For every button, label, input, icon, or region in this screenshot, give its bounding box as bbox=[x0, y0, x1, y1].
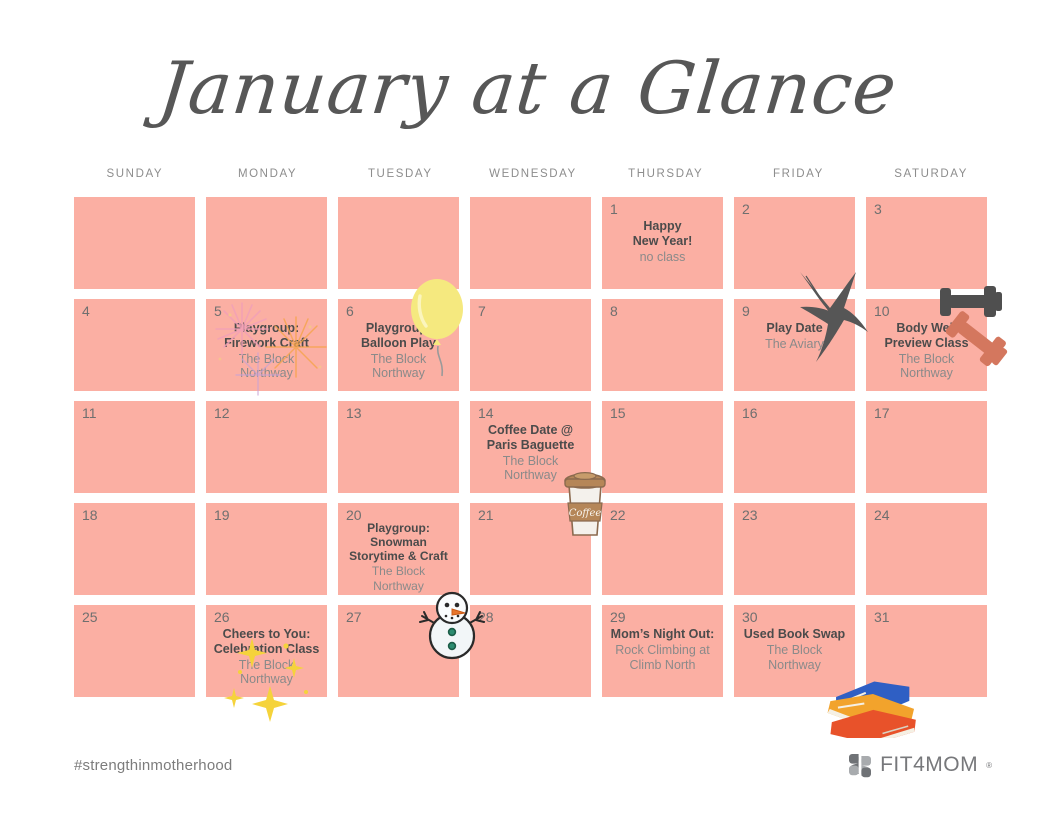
day-number: 30 bbox=[742, 609, 758, 626]
calendar-day-27[interactable]: 27 bbox=[338, 605, 459, 697]
day-number: 6 bbox=[346, 303, 354, 320]
fit4mom-logo-mark bbox=[847, 752, 873, 778]
calendar-day-2[interactable]: 2 bbox=[734, 197, 855, 289]
day-number: 3 bbox=[874, 201, 882, 218]
day-number: 5 bbox=[214, 303, 222, 320]
day-number: 1 bbox=[610, 201, 618, 218]
day-number: 8 bbox=[610, 303, 618, 320]
event-title: Coffee Date @ Paris Baguette bbox=[474, 423, 587, 453]
day-number: 19 bbox=[214, 507, 230, 524]
day-number: 17 bbox=[874, 405, 890, 422]
weekday-header-tuesday: TUESDAY bbox=[339, 168, 461, 180]
day-number: 14 bbox=[478, 405, 494, 422]
weekday-header-sunday: SUNDAY bbox=[74, 168, 196, 180]
calendar-day-14[interactable]: 14Coffee Date @ Paris BaguetteThe Block … bbox=[470, 401, 591, 493]
calendar-day-22[interactable]: 22 bbox=[602, 503, 723, 595]
day-number: 28 bbox=[478, 609, 494, 626]
day-number: 18 bbox=[82, 507, 98, 524]
calendar-day-3[interactable]: 3 bbox=[866, 197, 987, 289]
calendar-day-16[interactable]: 16 bbox=[734, 401, 855, 493]
weekday-header-row: SUNDAY MONDAY TUESDAY WEDNESDAY THURSDAY… bbox=[74, 168, 992, 180]
event-location: The Block Northway bbox=[474, 454, 587, 484]
event-location: The Block Northway bbox=[210, 352, 323, 382]
calendar-day-28[interactable]: 28 bbox=[470, 605, 591, 697]
event-title: Cheers to You: Celebration Class bbox=[210, 627, 323, 657]
calendar-day-23[interactable]: 23 bbox=[734, 503, 855, 595]
day-number: 4 bbox=[82, 303, 90, 320]
event-block: Playgroup: Balloon PlayThe Block Northwa… bbox=[342, 321, 455, 381]
calendar-day-12[interactable]: 12 bbox=[206, 401, 327, 493]
page-title-container: January at a Glance bbox=[0, 52, 1056, 124]
calendar-day-empty bbox=[206, 197, 327, 289]
calendar-day-10[interactable]: 10Body Well Preview ClassThe Block North… bbox=[866, 299, 987, 391]
day-number: 9 bbox=[742, 303, 750, 320]
event-location: The Block Northway bbox=[342, 352, 455, 382]
event-block: Playgroup: Snowman Storytime & CraftThe … bbox=[342, 521, 455, 593]
weekday-header-friday: FRIDAY bbox=[738, 168, 860, 180]
fit4mom-trademark: ® bbox=[986, 761, 992, 770]
calendar-day-11[interactable]: 11 bbox=[74, 401, 195, 493]
calendar-day-4[interactable]: 4 bbox=[74, 299, 195, 391]
event-block: Cheers to You: Celebration ClassThe Bloc… bbox=[210, 627, 323, 687]
day-number: 26 bbox=[214, 609, 230, 626]
calendar-day-30[interactable]: 30Used Book SwapThe Block Northway bbox=[734, 605, 855, 697]
calendar-day-31[interactable]: 31 bbox=[866, 605, 987, 697]
calendar-day-21[interactable]: 21 bbox=[470, 503, 591, 595]
calendar-day-29[interactable]: 29Mom’s Night Out:Rock Climbing at Climb… bbox=[602, 605, 723, 697]
event-location: The Block Northway bbox=[210, 658, 323, 688]
day-number: 27 bbox=[346, 609, 362, 626]
event-block: Mom’s Night Out:Rock Climbing at Climb N… bbox=[606, 627, 719, 672]
calendar-day-13[interactable]: 13 bbox=[338, 401, 459, 493]
event-title: Body Well Preview Class bbox=[870, 321, 983, 351]
calendar-day-7[interactable]: 7 bbox=[470, 299, 591, 391]
fit4mom-logo: FIT4MOM ® bbox=[847, 752, 992, 778]
event-title: Playgroup: Snowman Storytime & Craft bbox=[342, 521, 455, 563]
day-number: 31 bbox=[874, 609, 890, 626]
weekday-header-saturday: SATURDAY bbox=[870, 168, 992, 180]
calendar-day-18[interactable]: 18 bbox=[74, 503, 195, 595]
weekday-header-monday: MONDAY bbox=[207, 168, 329, 180]
event-location: The Block Northway bbox=[870, 352, 983, 382]
calendar-day-17[interactable]: 17 bbox=[866, 401, 987, 493]
event-location: The Block Northway bbox=[342, 564, 455, 592]
calendar-day-9[interactable]: 9Play DateThe Aviary bbox=[734, 299, 855, 391]
weekday-header-thursday: THURSDAY bbox=[605, 168, 727, 180]
event-title: Playgroup: Firework Craft bbox=[210, 321, 323, 351]
event-block: Playgroup: Firework CraftThe Block North… bbox=[210, 321, 323, 381]
day-number: 2 bbox=[742, 201, 750, 218]
day-number: 23 bbox=[742, 507, 758, 524]
hashtag-text: #strengthinmotherhood bbox=[74, 757, 232, 774]
calendar-day-26[interactable]: 26Cheers to You: Celebration ClassThe Bl… bbox=[206, 605, 327, 697]
weekday-header-wednesday: WEDNESDAY bbox=[472, 168, 594, 180]
event-block: Used Book SwapThe Block Northway bbox=[738, 627, 851, 672]
event-block: Happy New Year!no class bbox=[606, 219, 719, 264]
day-number: 11 bbox=[82, 405, 97, 422]
calendar-day-19[interactable]: 19 bbox=[206, 503, 327, 595]
event-title: Playgroup: Balloon Play bbox=[342, 321, 455, 351]
event-block: Coffee Date @ Paris BaguetteThe Block No… bbox=[474, 423, 587, 483]
day-number: 10 bbox=[874, 303, 890, 320]
calendar-day-20[interactable]: 20Playgroup: Snowman Storytime & CraftTh… bbox=[338, 503, 459, 595]
event-title: Play Date bbox=[738, 321, 851, 336]
event-location: The Aviary bbox=[738, 337, 851, 352]
event-block: Body Well Preview ClassThe Block Northwa… bbox=[870, 321, 983, 381]
day-number: 22 bbox=[610, 507, 626, 524]
calendar-day-6[interactable]: 6Playgroup: Balloon PlayThe Block Northw… bbox=[338, 299, 459, 391]
event-location: The Block Northway bbox=[738, 643, 851, 673]
event-title: Used Book Swap bbox=[738, 627, 851, 642]
day-number: 13 bbox=[346, 405, 362, 422]
calendar-day-15[interactable]: 15 bbox=[602, 401, 723, 493]
event-title: Happy New Year! bbox=[606, 219, 719, 249]
day-number: 16 bbox=[742, 405, 758, 422]
calendar-day-1[interactable]: 1Happy New Year!no class bbox=[602, 197, 723, 289]
event-location: no class bbox=[606, 250, 719, 265]
page-title: January at a Glance bbox=[155, 52, 900, 124]
event-block: Play DateThe Aviary bbox=[738, 321, 851, 352]
day-number: 24 bbox=[874, 507, 890, 524]
day-number: 21 bbox=[478, 507, 494, 524]
calendar-day-5[interactable]: 5Playgroup: Firework CraftThe Block Nort… bbox=[206, 299, 327, 391]
calendar-day-8[interactable]: 8 bbox=[602, 299, 723, 391]
calendar-grid: 1Happy New Year!no class2345Playgroup: F… bbox=[74, 197, 992, 697]
calendar-day-empty bbox=[74, 197, 195, 289]
calendar-day-25[interactable]: 25 bbox=[74, 605, 195, 697]
fit4mom-logo-text: FIT4MOM bbox=[880, 753, 978, 777]
calendar-day-24[interactable]: 24 bbox=[866, 503, 987, 595]
day-number: 25 bbox=[82, 609, 98, 626]
day-number: 7 bbox=[478, 303, 486, 320]
calendar-day-empty bbox=[338, 197, 459, 289]
event-location: Rock Climbing at Climb North bbox=[606, 643, 719, 673]
day-number: 12 bbox=[214, 405, 230, 422]
day-number: 15 bbox=[610, 405, 626, 422]
event-title: Mom’s Night Out: bbox=[606, 627, 719, 642]
day-number: 29 bbox=[610, 609, 626, 626]
calendar-day-empty bbox=[470, 197, 591, 289]
